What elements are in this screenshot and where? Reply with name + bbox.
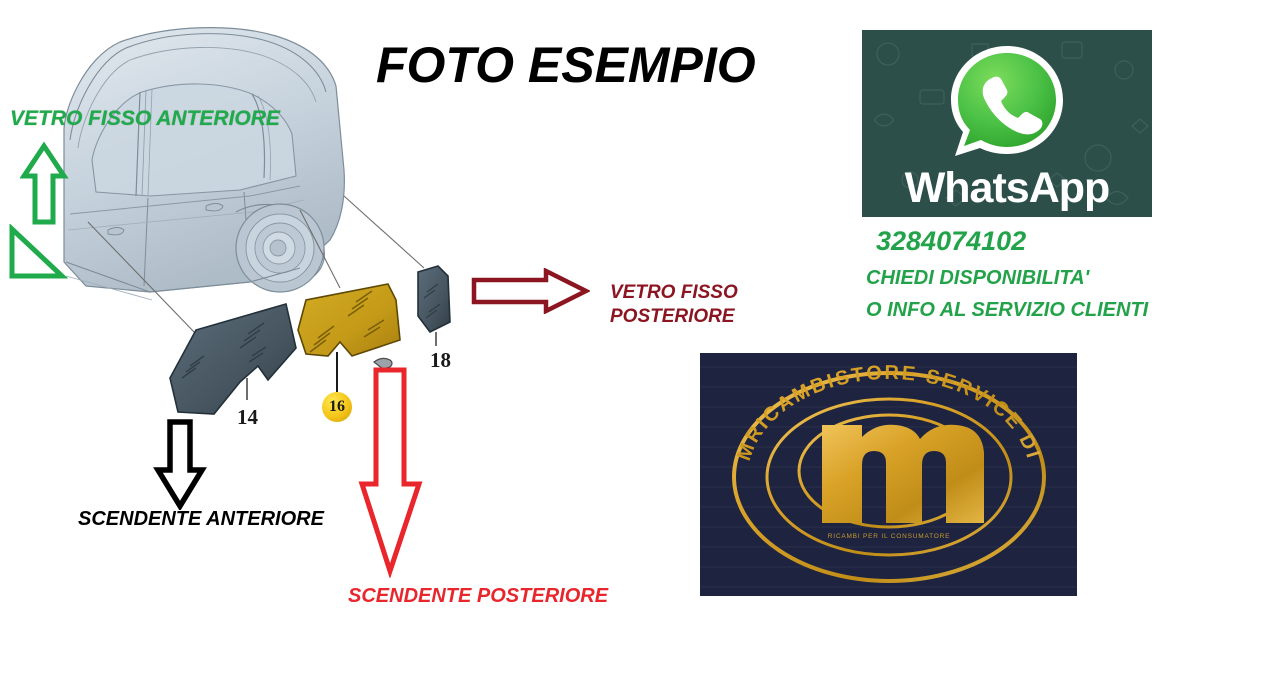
car-body-outline — [64, 28, 344, 300]
part-number-14: 14 — [237, 405, 258, 430]
whatsapp-phone-icon — [943, 38, 1071, 171]
shop-logo-banner: MRICAMBISTORE SERVICE DI RUSSO MARCO RIC… — [700, 353, 1077, 596]
whatsapp-banner: WhatsApp — [862, 30, 1152, 217]
label-scendente-anteriore: SCENDENTE ANTERIORE — [78, 508, 324, 531]
shop-logo-graphic: MRICAMBISTORE SERVICE DI RUSSO MARCO RIC… — [700, 353, 1077, 596]
info-line-2: O INFO AL SERVIZIO CLIENTI — [866, 299, 1148, 322]
shop-logo-monogram — [822, 425, 984, 523]
screenshot-canvas: 14 17 18 16 VETRO FISSO ANTERIORE VETRO … — [0, 0, 1264, 678]
rear-wheel — [236, 204, 324, 292]
label-vetro-fisso-anteriore: VETRO FISSO ANTERIORE — [10, 107, 280, 131]
down-arrow-red-icon — [355, 366, 425, 578]
right-arrow-darkred-icon — [470, 268, 590, 314]
label-scendente-posteriore: SCENDENTE POSTERIORE — [348, 585, 608, 608]
whatsapp-wordmark: WhatsApp — [862, 164, 1152, 213]
info-line-1: CHIEDI DISPONIBILITA' — [866, 267, 1089, 290]
part-number-badge-16: 16 — [322, 392, 352, 422]
page-title: FOTO ESEMPIO — [376, 36, 796, 94]
label-vetro-fisso-posteriore-line2: POSTERIORE — [610, 305, 738, 329]
down-arrow-black-icon — [152, 418, 208, 510]
up-arrow-green-icon — [20, 140, 70, 230]
part-number-18: 18 — [430, 348, 451, 373]
phone-number[interactable]: 3284074102 — [876, 226, 1026, 257]
part-14-front-drop-glass — [170, 304, 296, 414]
label-vetro-fisso-posteriore-line1: VETRO FISSO — [610, 281, 738, 305]
label-vetro-fisso-posteriore: VETRO FISSO POSTERIORE — [610, 281, 738, 329]
shop-logo-micro-text: RICAMBI PER IL CONSUMATORE — [828, 533, 951, 540]
part-18-rear-fixed-glass — [418, 266, 450, 346]
triangle-green-icon — [6, 224, 68, 284]
